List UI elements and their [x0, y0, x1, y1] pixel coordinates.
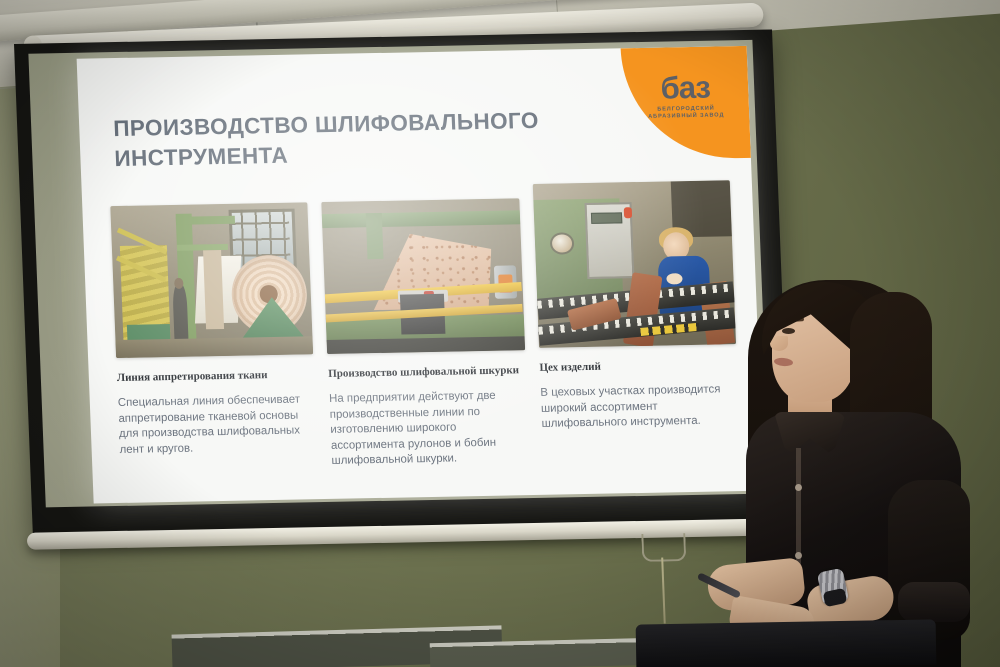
baz-wordmark: баз	[637, 72, 734, 104]
presenter-shirt-button	[795, 552, 802, 559]
presenter	[700, 252, 1000, 667]
slide-column-2: Производство шлифовальной шкурки На пред…	[322, 198, 530, 470]
photo-body-1: Специальная линия обеспечивает аппретиро…	[118, 392, 318, 458]
baz-logo-block: баз БЕЛГОРОДСКИЙ АБРАЗИВНЫЙ ЗАВОД	[621, 46, 751, 160]
photo-appret-line	[110, 202, 313, 358]
photo-body-2: На предприятии действуют две производств…	[329, 388, 529, 470]
baz-logo-line2: АБРАЗИВНЫЙ ЗАВОД	[638, 113, 734, 122]
presenter-shirt-button	[795, 484, 802, 491]
photo-caption-1: Линия аппретирования ткани	[117, 367, 315, 385]
slide-columns: Линия аппретирования ткани Специальная л…	[110, 194, 740, 474]
presentation-room-scene: баз БЕЛГОРОДСКИЙ АБРАЗИВНЫЙ ЗАВОД ПРОИЗВ…	[0, 0, 1000, 667]
slide-title: ПРОИЗВОДСТВО ШЛИФОВАЛЬНОГО ИНСТРУМЕНТА	[113, 106, 545, 174]
monitor[interactable]	[636, 619, 937, 667]
baz-logo: баз БЕЛГОРОДСКИЙ АБРАЗИВНЫЙ ЗАВОД	[637, 72, 735, 122]
photo-caption-2: Производство шлифовальной шкурки	[328, 363, 526, 381]
presenter-sleeve-cuff	[898, 582, 970, 622]
slide-column-1: Линия аппретирования ткани Специальная л…	[110, 202, 318, 474]
presenter-eye	[782, 328, 795, 334]
projected-slide: баз БЕЛГОРОДСКИЙ АБРАЗИВНЫЙ ЗАВОД ПРОИЗВ…	[77, 46, 764, 504]
screen-pull-handle[interactable]	[641, 533, 686, 562]
projection-screen[interactable]: баз БЕЛГОРОДСКИЙ АБРАЗИВНЫЙ ЗАВОД ПРОИЗВ…	[14, 29, 791, 535]
photo-shkurka-line	[322, 198, 525, 354]
